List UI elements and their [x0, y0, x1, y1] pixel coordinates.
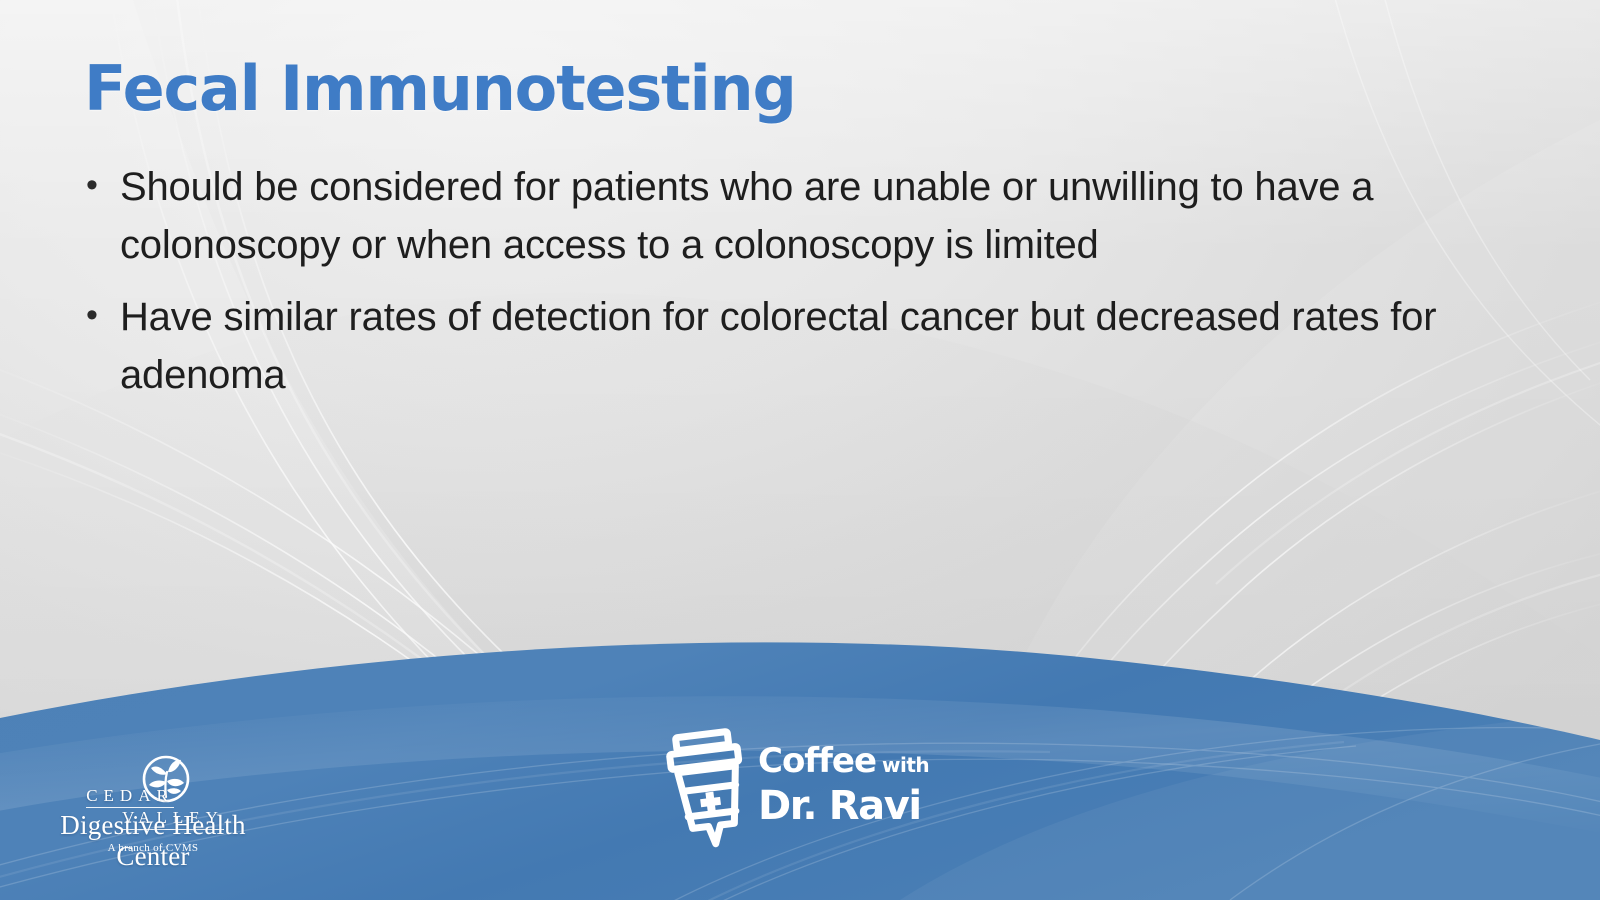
page-title: Fecal Immunotesting — [84, 56, 796, 121]
list-item: • Have similar rates of detection for co… — [86, 288, 1506, 404]
ravi-logo-line2: Dr. Ravi — [758, 784, 928, 828]
coffee-with-dr-ravi-logo: Coffeewith Dr. Ravi — [660, 726, 920, 852]
coffee-cup-speech-bubble-icon — [660, 726, 760, 852]
ravi-logo-line1: Coffeewith — [758, 744, 928, 782]
bullet-list: • Should be considered for patients who … — [86, 158, 1506, 418]
bullet-point-icon: • — [86, 286, 120, 344]
bullet-point-icon: • — [86, 156, 120, 214]
logo-word-cedar: CEDAR — [86, 786, 174, 808]
ravi-logo-text: Coffeewith Dr. Ravi — [758, 744, 928, 828]
bullet-text: Have similar rates of detection for colo… — [120, 288, 1506, 404]
presentation-slide: Fecal Immunotesting • Should be consider… — [0, 0, 1600, 900]
logo-tagline: A branch of CVMS — [22, 842, 284, 854]
list-item: • Should be considered for patients who … — [86, 158, 1506, 274]
ravi-word-coffee: Coffee — [758, 741, 876, 781]
ravi-word-with: with — [882, 753, 929, 777]
bullet-text: Should be considered for patients who ar… — [120, 158, 1506, 274]
logo-name: Digestive Health Center — [22, 810, 284, 872]
cedar-valley-logo: CEDARVALLEY Digestive Health Center A br… — [22, 752, 284, 864]
